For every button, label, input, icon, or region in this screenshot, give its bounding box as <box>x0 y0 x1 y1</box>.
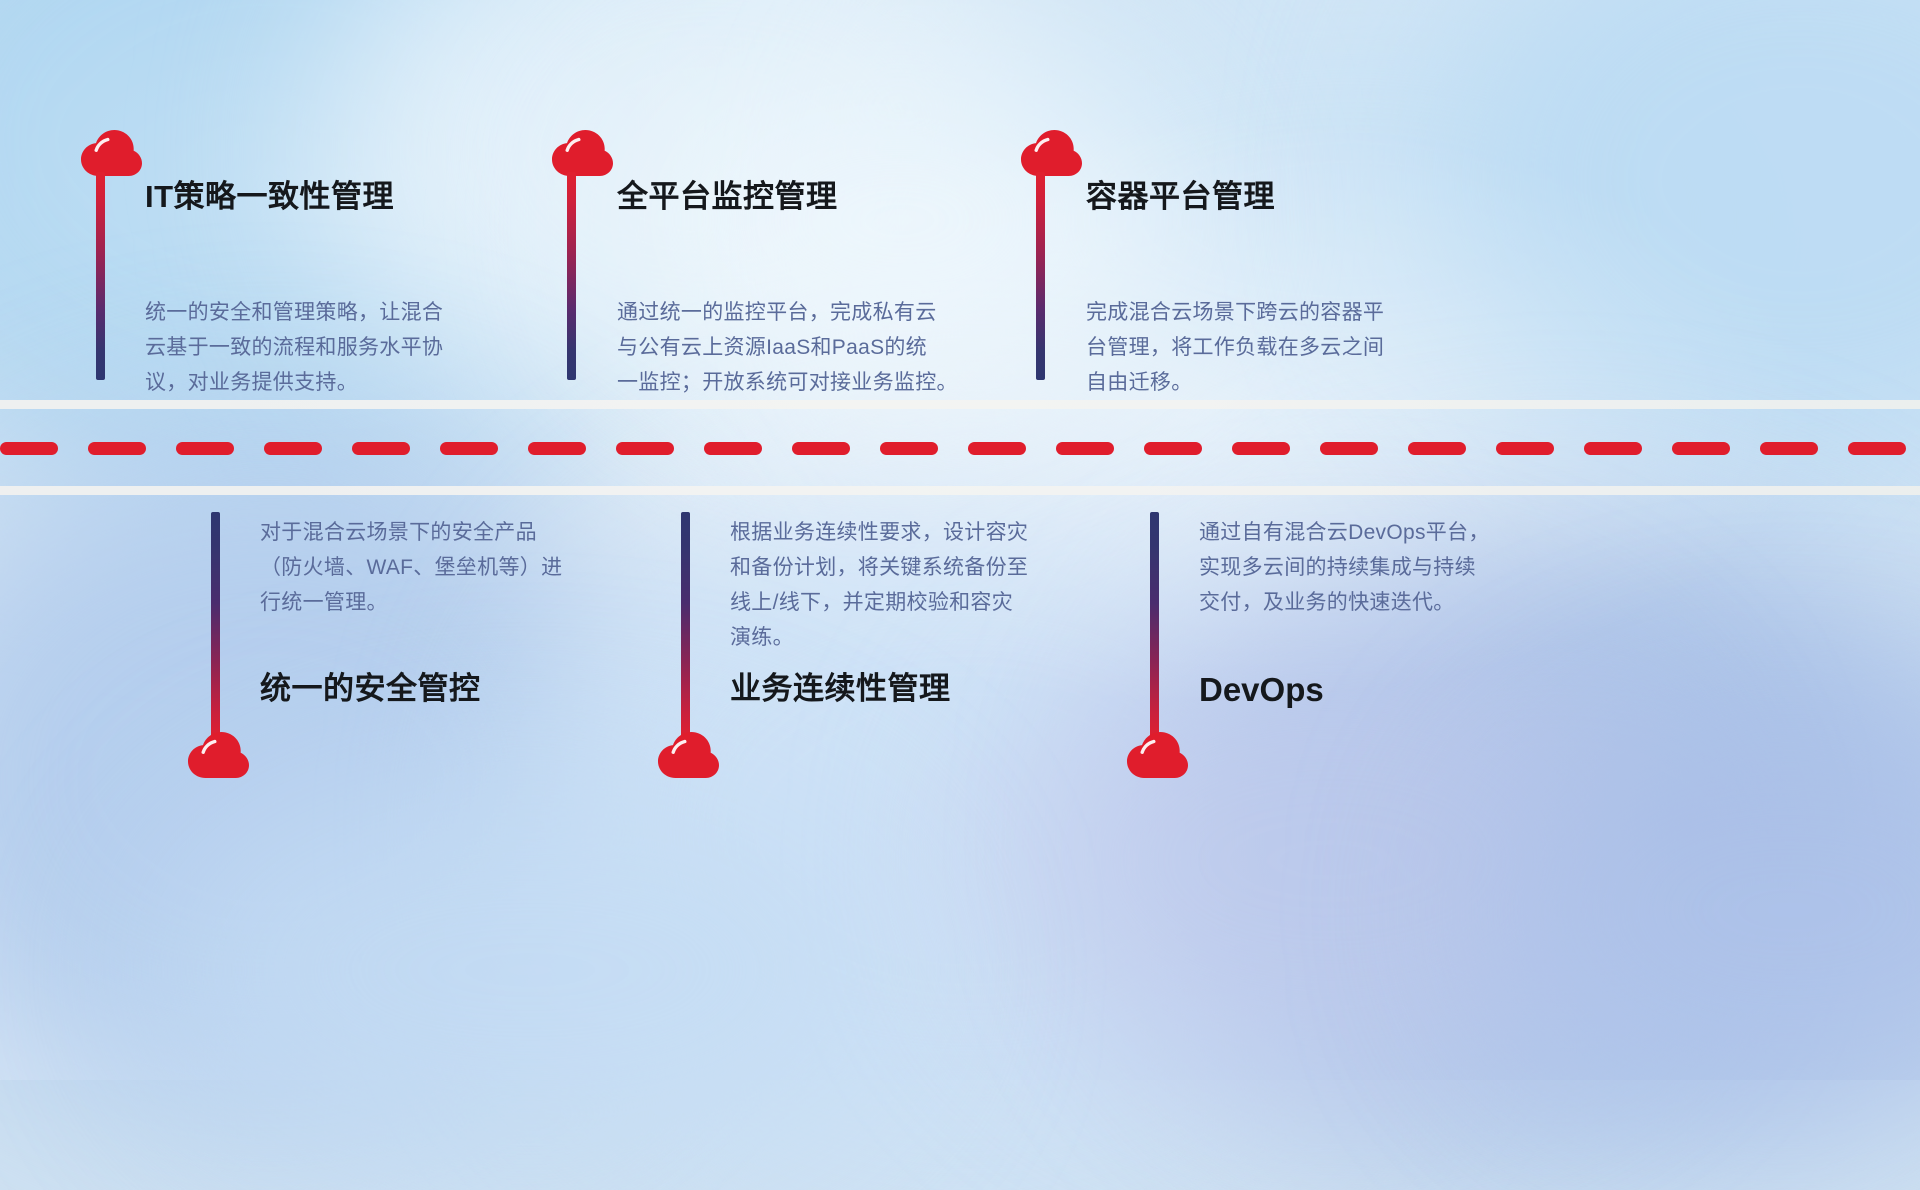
road-dash <box>528 442 586 455</box>
card-heading: DevOps <box>1199 673 1324 706</box>
road-dash <box>0 442 58 455</box>
stem-line <box>1150 512 1159 740</box>
card-body: 根据业务连续性要求，设计容灾 和备份计划，将关键系统备份至 线上/线下，并定期校… <box>730 515 1120 655</box>
card-body: 统一的安全和管理策略，让混合 云基于一致的流程和服务水平协 议，对业务提供支持。 <box>145 295 525 400</box>
road-dash <box>880 442 938 455</box>
cloud-icon <box>657 732 719 780</box>
road-dash <box>352 442 410 455</box>
cloud-icon <box>551 130 613 178</box>
road-dash <box>1144 442 1202 455</box>
cloud-icon <box>1020 130 1082 178</box>
road-edge-top <box>0 400 1920 409</box>
road-dash <box>440 442 498 455</box>
road-dash <box>792 442 850 455</box>
road-dash <box>1584 442 1642 455</box>
road-dash <box>1232 442 1290 455</box>
card-heading: 全平台监控管理 <box>617 181 838 212</box>
card-body: 对于混合云场景下的安全产品 （防火墙、WAF、堡垒机等）进 行统一管理。 <box>260 515 650 620</box>
stem-line <box>1036 172 1045 380</box>
card-heading: 容器平台管理 <box>1086 181 1275 212</box>
road-dash <box>1320 442 1378 455</box>
card-heading: 业务连续性管理 <box>730 673 951 704</box>
road-edge-bottom <box>0 486 1920 495</box>
road-dash <box>176 442 234 455</box>
card-body: 通过统一的监控平台，完成私有云 与公有云上资源IaaS和PaaS的统 一监控；开… <box>617 295 1007 400</box>
road-dash <box>1408 442 1466 455</box>
stem-line <box>96 172 105 380</box>
card-heading: 统一的安全管控 <box>260 673 481 704</box>
card-body: 通过自有混合云DevOps平台， 实现多云间的持续集成与持续 交付，及业务的快速… <box>1199 515 1589 620</box>
road-dash <box>1848 442 1906 455</box>
card-body: 完成混合云场景下跨云的容器平 台管理，将工作负载在多云之间 自由迁移。 <box>1086 295 1466 400</box>
stem-line <box>567 172 576 380</box>
road-dash <box>88 442 146 455</box>
road-dash <box>1672 442 1730 455</box>
road-divider <box>0 400 1920 495</box>
stem-line <box>211 512 220 740</box>
cloud-icon <box>187 732 249 780</box>
cloud-icon <box>80 130 142 178</box>
card-heading: IT策略一致性管理 <box>145 181 394 212</box>
road-dash <box>1496 442 1554 455</box>
road-dash <box>616 442 674 455</box>
road-dash <box>1056 442 1114 455</box>
road-dash <box>704 442 762 455</box>
road-dash <box>264 442 322 455</box>
cloud-icon <box>1126 732 1188 780</box>
road-dash-line <box>0 442 1920 455</box>
road-dash <box>968 442 1026 455</box>
road-dash <box>1760 442 1818 455</box>
stem-line <box>681 512 690 740</box>
